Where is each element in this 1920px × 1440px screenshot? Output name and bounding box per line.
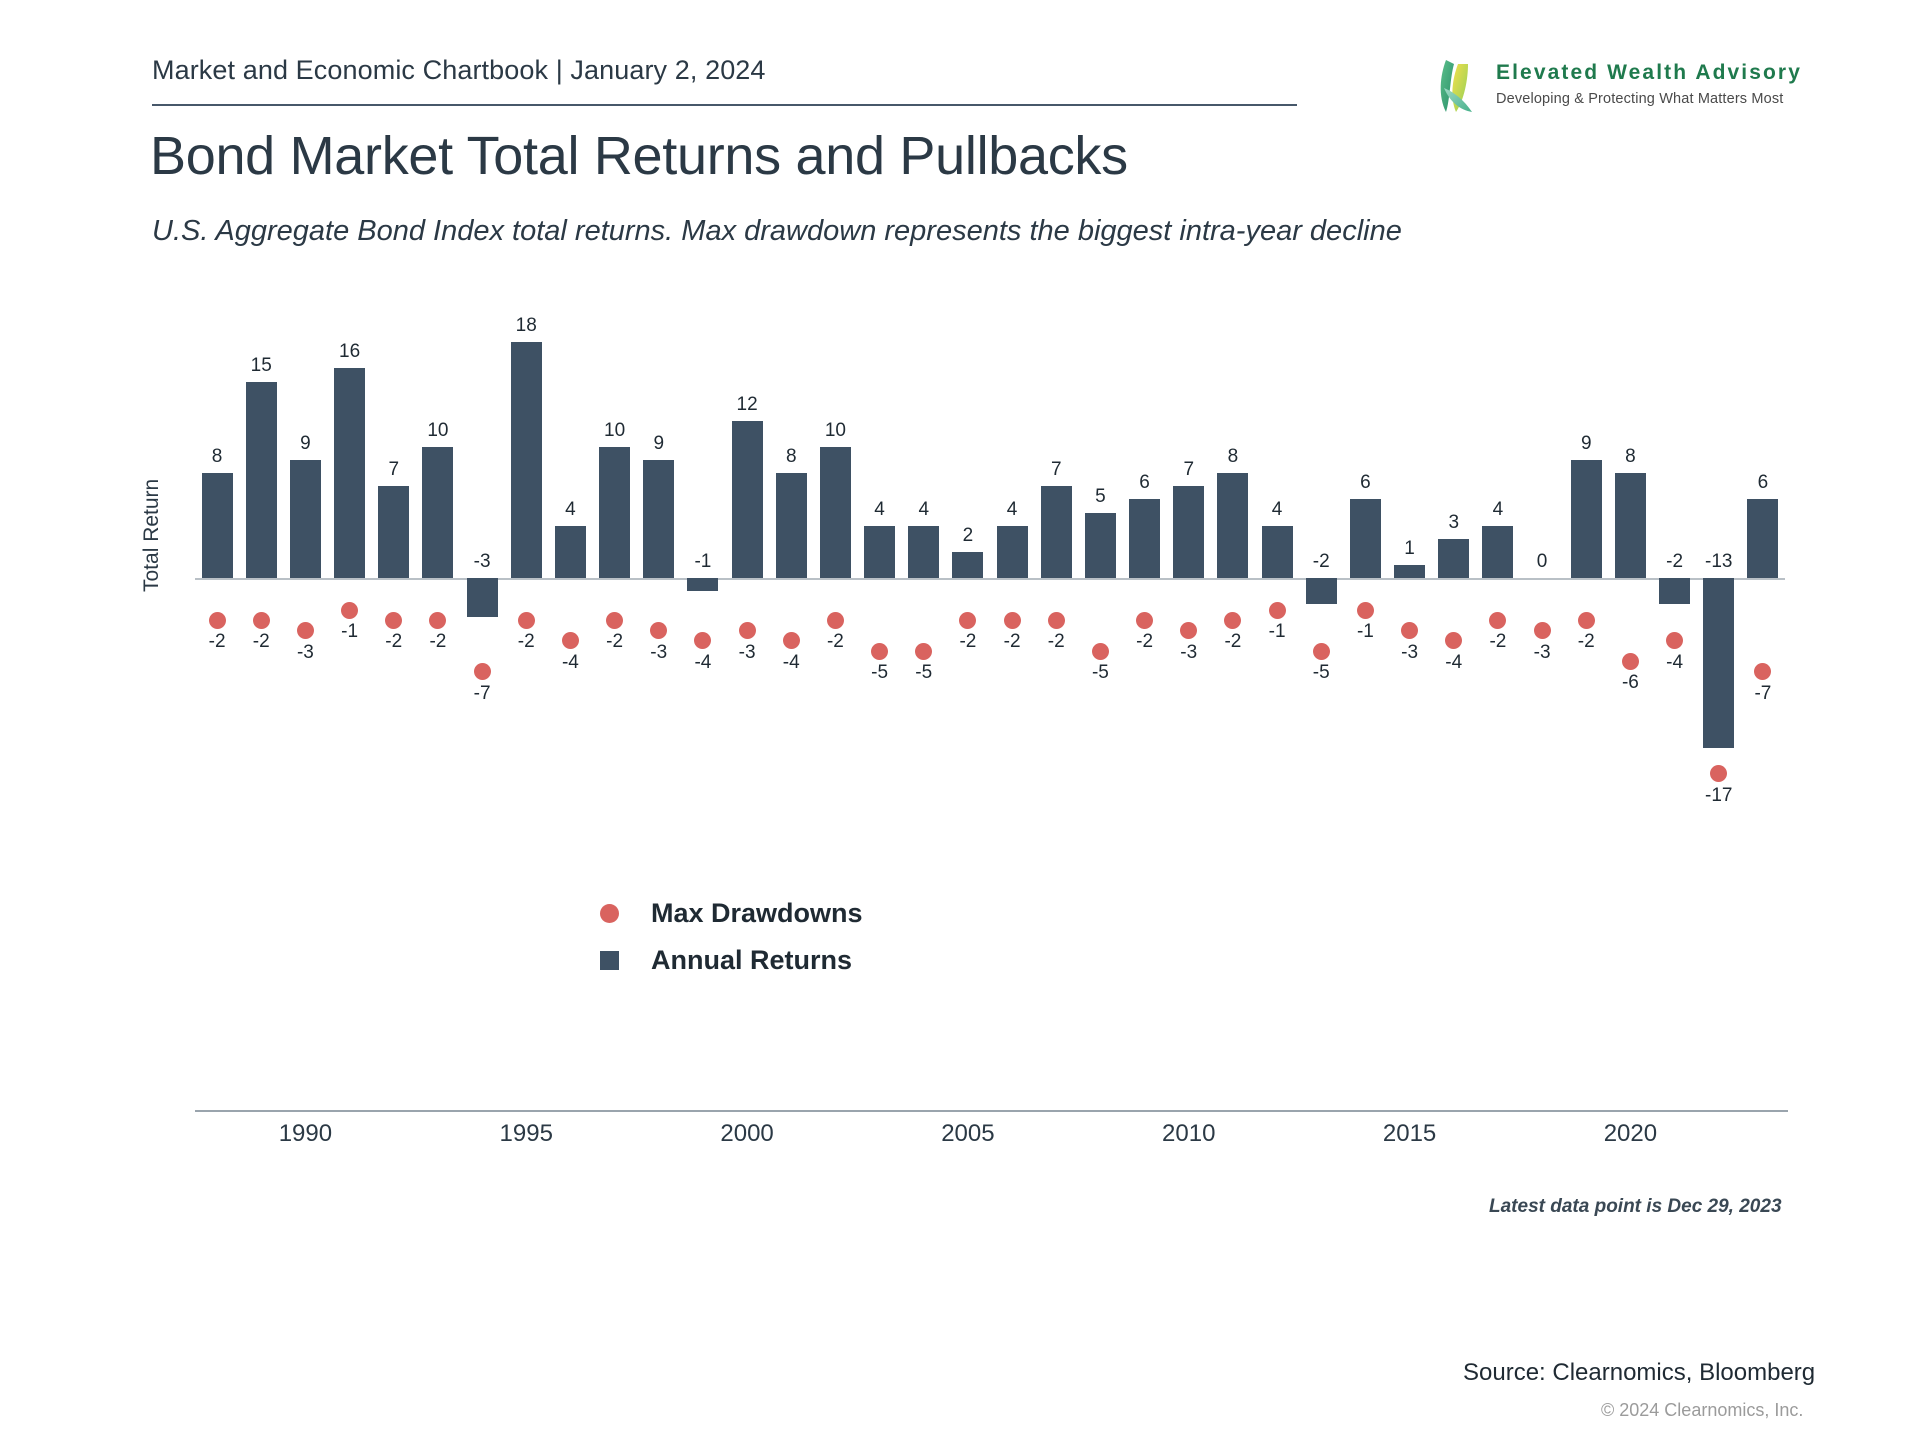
bar-1991 xyxy=(334,368,365,578)
bar-1996 xyxy=(555,526,586,578)
x-tick-1995: 1995 xyxy=(466,1120,586,1148)
bar-2019 xyxy=(1571,460,1602,578)
bar-value-label-1993: 10 xyxy=(416,420,460,442)
drawdown-value-label-2009: -2 xyxy=(1123,631,1167,653)
drawdown-dot-1988 xyxy=(209,612,226,629)
bar-value-label-2022: -13 xyxy=(1697,551,1741,573)
bar-1993 xyxy=(422,447,453,578)
drawdown-value-label-2011: -2 xyxy=(1211,631,1255,653)
bond-returns-chart: Total Return 815916710-3184109-112810442… xyxy=(195,330,1785,1120)
drawdown-dot-1995 xyxy=(518,612,535,629)
drawdown-value-label-2004: -5 xyxy=(902,662,946,684)
drawdown-value-label-2020: -6 xyxy=(1608,672,1652,694)
drawdown-dot-2017 xyxy=(1489,612,1506,629)
bar-value-label-2012: 4 xyxy=(1255,499,1299,521)
drawdown-value-label-2012: -1 xyxy=(1255,621,1299,643)
drawdown-dot-2000 xyxy=(739,622,756,639)
drawdown-value-label-2001: -4 xyxy=(769,652,813,674)
bar-2000 xyxy=(732,421,763,578)
drawdown-value-label-2016: -4 xyxy=(1432,652,1476,674)
latest-data-point-note: Latest data point is Dec 29, 2023 xyxy=(1489,1196,1782,1218)
bar-value-label-2020: 8 xyxy=(1608,446,1652,468)
bar-2001 xyxy=(776,473,807,578)
bar-value-label-1996: 4 xyxy=(548,499,592,521)
bar-2010 xyxy=(1173,486,1204,578)
drawdown-dot-2018 xyxy=(1534,622,1551,639)
bar-value-label-2019: 9 xyxy=(1564,433,1608,455)
bar-2005 xyxy=(952,552,983,578)
bar-value-label-1995: 18 xyxy=(504,315,548,337)
drawdown-dot-2010 xyxy=(1180,622,1197,639)
legend-label-annual-returns: Annual Returns xyxy=(651,945,852,976)
drawdown-value-label-1988: -2 xyxy=(195,631,239,653)
drawdown-dot-2002 xyxy=(827,612,844,629)
bar-2014 xyxy=(1350,499,1381,578)
bar-2009 xyxy=(1129,499,1160,578)
bar-2002 xyxy=(820,447,851,578)
bar-value-label-1992: 7 xyxy=(372,459,416,481)
drawdown-value-label-2006: -2 xyxy=(990,631,1034,653)
bar-value-label-1997: 10 xyxy=(593,420,637,442)
plot-area: 815916710-3184109-1128104424756784-26134… xyxy=(195,330,1785,1120)
bar-1995 xyxy=(511,342,542,578)
drawdown-dot-1990 xyxy=(297,622,314,639)
drawdown-value-label-1989: -2 xyxy=(239,631,283,653)
drawdown-dot-2009 xyxy=(1136,612,1153,629)
bar-value-label-2006: 4 xyxy=(990,499,1034,521)
x-tick-2010: 2010 xyxy=(1129,1120,1249,1148)
bar-1998 xyxy=(643,460,674,578)
leaf-logo-icon xyxy=(1430,54,1492,116)
bar-2003 xyxy=(864,526,895,578)
drawdown-value-label-2003: -5 xyxy=(858,662,902,684)
legend-square-icon xyxy=(600,951,619,970)
drawdown-value-label-2002: -2 xyxy=(813,631,857,653)
bar-value-label-2018: 0 xyxy=(1520,551,1564,573)
legend-item-annual-returns[interactable]: Annual Returns xyxy=(600,937,863,984)
bar-value-label-2003: 4 xyxy=(858,499,902,521)
x-tick-2015: 2015 xyxy=(1350,1120,1470,1148)
brand-logo: Elevated Wealth Advisory Developing & Pr… xyxy=(1430,50,1760,122)
drawdown-value-label-2022: -17 xyxy=(1697,785,1741,807)
bar-value-label-2016: 3 xyxy=(1432,512,1476,534)
bar-2023 xyxy=(1747,499,1778,578)
bar-value-label-2011: 8 xyxy=(1211,446,1255,468)
drawdown-value-label-2013: -5 xyxy=(1299,662,1343,684)
x-tick-2000: 2000 xyxy=(687,1120,807,1148)
drawdown-value-label-2000: -3 xyxy=(725,642,769,664)
chartbook-header: Market and Economic Chartbook | January … xyxy=(152,55,1297,86)
drawdown-dot-2011 xyxy=(1224,612,1241,629)
bar-value-label-1990: 9 xyxy=(283,433,327,455)
bar-value-label-2010: 7 xyxy=(1167,459,1211,481)
drawdown-dot-2005 xyxy=(959,612,976,629)
drawdown-value-label-2021: -4 xyxy=(1653,652,1697,674)
legend-dot-icon xyxy=(600,904,619,923)
bar-value-label-2000: 12 xyxy=(725,394,769,416)
bar-2021 xyxy=(1659,578,1690,604)
x-axis-rule xyxy=(195,1110,1788,1112)
chart-legend: Max Drawdowns Annual Returns xyxy=(600,890,863,984)
drawdown-value-label-2014: -1 xyxy=(1343,621,1387,643)
x-tick-1990: 1990 xyxy=(245,1120,365,1148)
drawdown-dot-2007 xyxy=(1048,612,1065,629)
drawdown-dot-1992 xyxy=(385,612,402,629)
y-axis-label: Total Return xyxy=(140,479,164,592)
bar-1990 xyxy=(290,460,321,578)
drawdown-value-label-1996: -4 xyxy=(548,652,592,674)
drawdown-value-label-2017: -2 xyxy=(1476,631,1520,653)
drawdown-value-label-1992: -2 xyxy=(372,631,416,653)
bar-2006 xyxy=(997,526,1028,578)
bar-1989 xyxy=(246,382,277,579)
bar-2012 xyxy=(1262,526,1293,578)
drawdown-dot-2006 xyxy=(1004,612,1021,629)
drawdown-dot-1994 xyxy=(474,663,491,680)
drawdown-value-label-2007: -2 xyxy=(1034,631,1078,653)
bar-value-label-2008: 5 xyxy=(1078,486,1122,508)
drawdown-value-label-2008: -5 xyxy=(1078,662,1122,684)
bar-1997 xyxy=(599,447,630,578)
drawdown-value-label-2010: -3 xyxy=(1167,642,1211,664)
drawdown-dot-2022 xyxy=(1710,765,1727,782)
bar-value-label-1988: 8 xyxy=(195,446,239,468)
bar-2011 xyxy=(1217,473,1248,578)
drawdown-value-label-2005: -2 xyxy=(946,631,990,653)
x-tick-2005: 2005 xyxy=(908,1120,1028,1148)
drawdown-dot-2003 xyxy=(871,643,888,660)
bar-1988 xyxy=(202,473,233,578)
bar-value-label-2001: 8 xyxy=(769,446,813,468)
bar-1994 xyxy=(467,578,498,617)
bar-value-label-2023: 6 xyxy=(1741,472,1785,494)
drawdown-dot-2016 xyxy=(1445,632,1462,649)
drawdown-dot-2019 xyxy=(1578,612,1595,629)
drawdown-value-label-1993: -2 xyxy=(416,631,460,653)
drawdown-dot-2014 xyxy=(1357,602,1374,619)
bar-value-label-2017: 4 xyxy=(1476,499,1520,521)
bar-2015 xyxy=(1394,565,1425,578)
drawdown-dot-2008 xyxy=(1092,643,1109,660)
bar-value-label-2013: -2 xyxy=(1299,551,1343,573)
bar-value-label-2005: 2 xyxy=(946,525,990,547)
bar-2008 xyxy=(1085,513,1116,579)
drawdown-value-label-2015: -3 xyxy=(1388,642,1432,664)
drawdown-dot-2013 xyxy=(1313,643,1330,660)
page-subtitle: U.S. Aggregate Bond Index total returns.… xyxy=(152,212,1412,251)
bar-2007 xyxy=(1041,486,1072,578)
drawdown-dot-1991 xyxy=(341,602,358,619)
drawdown-value-label-1997: -2 xyxy=(593,631,637,653)
drawdown-dot-2012 xyxy=(1269,602,1286,619)
x-tick-2020: 2020 xyxy=(1570,1120,1690,1148)
logo-tagline: Developing & Protecting What Matters Mos… xyxy=(1496,91,1783,107)
bar-value-label-2002: 10 xyxy=(813,420,857,442)
drawdown-dot-2021 xyxy=(1666,632,1683,649)
bar-2020 xyxy=(1615,473,1646,578)
drawdown-dot-2023 xyxy=(1754,663,1771,680)
drawdown-value-label-1991: -1 xyxy=(328,621,372,643)
legend-item-max-drawdowns[interactable]: Max Drawdowns xyxy=(600,890,863,937)
bar-1999 xyxy=(687,578,718,591)
bar-value-label-2007: 7 xyxy=(1034,459,1078,481)
bar-2013 xyxy=(1306,578,1337,604)
drawdown-dot-1996 xyxy=(562,632,579,649)
drawdown-dot-1993 xyxy=(429,612,446,629)
drawdown-dot-1989 xyxy=(253,612,270,629)
drawdown-dot-1999 xyxy=(694,632,711,649)
logo-company-name: Elevated Wealth Advisory xyxy=(1496,61,1802,85)
drawdown-dot-2020 xyxy=(1622,653,1639,670)
drawdown-dot-1997 xyxy=(606,612,623,629)
drawdown-dot-2004 xyxy=(915,643,932,660)
drawdown-value-label-1990: -3 xyxy=(283,642,327,664)
chart-page: Market and Economic Chartbook | January … xyxy=(0,0,1920,1440)
bar-value-label-1991: 16 xyxy=(328,341,372,363)
drawdown-dot-1998 xyxy=(650,622,667,639)
bar-value-label-1999: -1 xyxy=(681,551,725,573)
bar-value-label-2009: 6 xyxy=(1123,472,1167,494)
bar-value-label-1989: 15 xyxy=(239,355,283,377)
bar-2017 xyxy=(1482,526,1513,578)
drawdown-value-label-2018: -3 xyxy=(1520,642,1564,664)
bar-2016 xyxy=(1438,539,1469,578)
drawdown-value-label-2023: -7 xyxy=(1741,683,1785,705)
copyright-note: © 2024 Clearnomics, Inc. xyxy=(1601,1400,1803,1421)
page-title: Bond Market Total Returns and Pullbacks xyxy=(150,125,1128,187)
source-note: Source: Clearnomics, Bloomberg xyxy=(1463,1359,1815,1387)
drawdown-dot-2015 xyxy=(1401,622,1418,639)
drawdown-value-label-1998: -3 xyxy=(637,642,681,664)
header-divider xyxy=(152,104,1297,106)
drawdown-value-label-2019: -2 xyxy=(1564,631,1608,653)
bar-2022 xyxy=(1703,578,1734,748)
bar-value-label-2015: 1 xyxy=(1388,538,1432,560)
zero-baseline xyxy=(195,578,1785,580)
bar-value-label-2004: 4 xyxy=(902,499,946,521)
bar-2004 xyxy=(908,526,939,578)
drawdown-value-label-1999: -4 xyxy=(681,652,725,674)
drawdown-value-label-1995: -2 xyxy=(504,631,548,653)
bar-value-label-1998: 9 xyxy=(637,433,681,455)
drawdown-dot-2001 xyxy=(783,632,800,649)
bar-value-label-2021: -2 xyxy=(1653,551,1697,573)
drawdown-value-label-1994: -7 xyxy=(460,683,504,705)
legend-label-max-drawdowns: Max Drawdowns xyxy=(651,898,863,929)
bar-value-label-2014: 6 xyxy=(1343,472,1387,494)
bar-value-label-1994: -3 xyxy=(460,551,504,573)
bar-1992 xyxy=(378,486,409,578)
